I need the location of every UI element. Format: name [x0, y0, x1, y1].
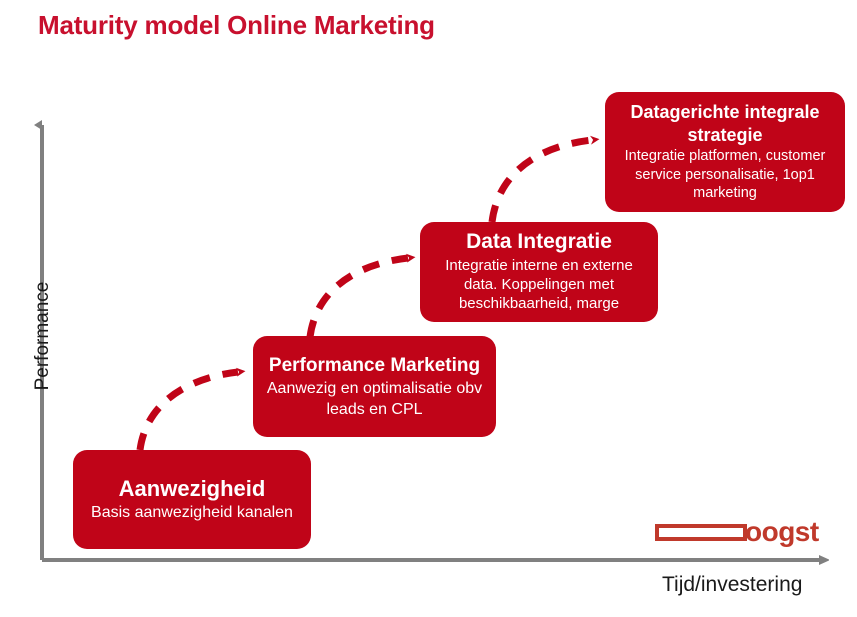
stage-box-aanwezigheid[interactable]: Aanwezigheid Basis aanwezigheid kanalen [73, 450, 311, 549]
connector-arrow-3 [492, 140, 592, 222]
stage-description: Aanwezig en optimalisatie obv leads en C… [261, 379, 488, 420]
stage-title: Performance Marketing [269, 353, 480, 378]
stage-description: Integratie platformen, customer service … [613, 147, 837, 203]
page-title: Maturity model Online Marketing [38, 10, 435, 41]
stage-title: Aanwezigheid [119, 476, 266, 502]
stage-title: Data Integratie [466, 230, 612, 255]
x-axis-label: Tijd/investering [662, 573, 802, 597]
y-axis-label: Performance [32, 266, 54, 406]
stage-description: Integratie interne en externe data. Kopp… [428, 256, 650, 314]
oogst-logo: oogst [655, 518, 819, 546]
stage-box-datagerichte-integrale-strategie[interactable]: Datagerichte integrale strategie Integra… [605, 92, 845, 212]
slide-canvas: Maturity model Online Marketing Performa… [0, 0, 857, 617]
logo-wordmark: oogst [745, 518, 819, 546]
connector-arrow-1 [140, 372, 238, 450]
stage-title: Datagerichte integrale strategie [613, 101, 837, 146]
logo-rectangle-icon [655, 524, 747, 541]
stage-description: Basis aanwezigheid kanalen [91, 503, 293, 523]
connector-arrow-2 [310, 258, 408, 337]
stage-box-performance-marketing[interactable]: Performance Marketing Aanwezig en optima… [253, 336, 496, 437]
stage-box-data-integratie[interactable]: Data Integratie Integratie interne en ex… [420, 222, 658, 322]
